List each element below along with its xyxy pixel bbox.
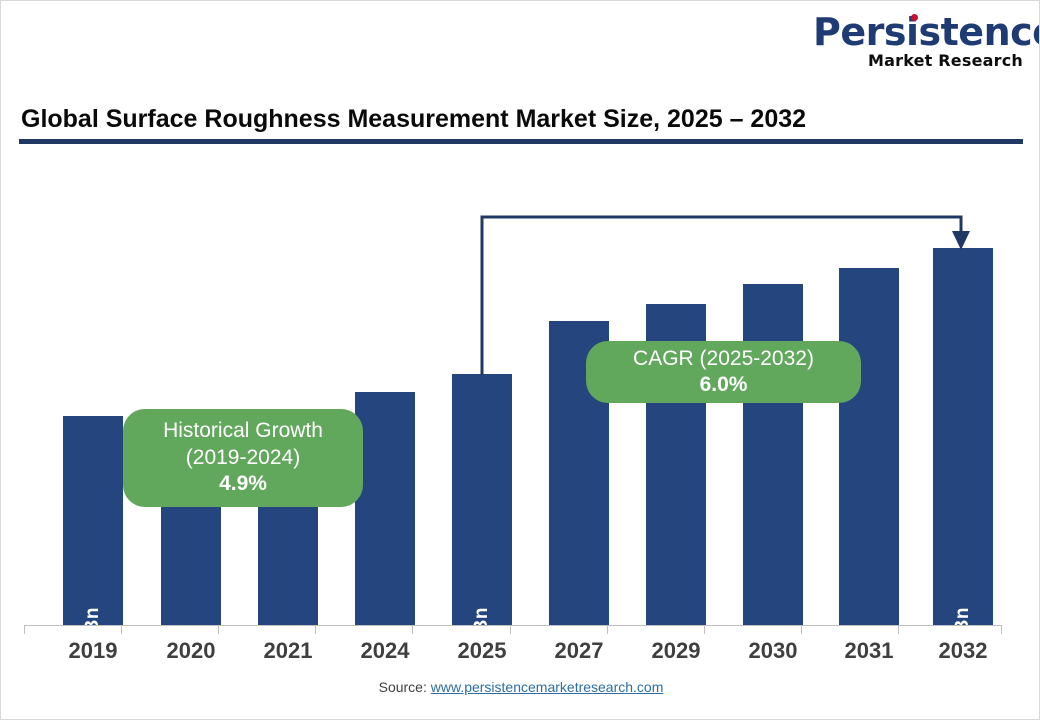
- historical-callout-value: 4.9%: [219, 471, 267, 497]
- chart-page: Persistence Market Research Global Surfa…: [0, 0, 1040, 720]
- axis-tick: [121, 625, 122, 634]
- plot-area: US$ 0.8 Bn US$ 1.1 Bn US$ 1.7 Bn: [1, 151, 1040, 625]
- cagr-callout-line1: CAGR (2025-2032): [633, 346, 814, 372]
- company-logo: Persistence Market Research: [813, 13, 1023, 69]
- bar-2031[interactable]: [839, 268, 899, 625]
- axis-tick: [24, 625, 25, 634]
- cagr-callout: CAGR (2025-2032) 6.0%: [586, 341, 861, 403]
- source-prefix: Source:: [379, 679, 431, 695]
- x-label-2019: 2019: [43, 638, 143, 664]
- x-label-2024: 2024: [335, 638, 435, 664]
- logo-brand-label: Persistence: [813, 10, 1040, 54]
- x-label-2030: 2030: [723, 638, 823, 664]
- axis-tick: [412, 625, 413, 634]
- logo-brand-text: Persistence: [813, 13, 1023, 51]
- axis-tick: [510, 625, 511, 634]
- page-title: Global Surface Roughness Measurement Mar…: [21, 105, 806, 134]
- axis-tick: [1001, 625, 1002, 634]
- x-label-2020: 2020: [141, 638, 241, 664]
- axis-tick: [898, 625, 899, 634]
- x-label-2027: 2027: [529, 638, 629, 664]
- x-label-2021: 2021: [238, 638, 338, 664]
- bar-2019[interactable]: US$ 0.8 Bn: [63, 416, 123, 625]
- bar-2024[interactable]: [355, 392, 415, 625]
- bar-2025[interactable]: US$ 1.1 Bn: [452, 374, 512, 625]
- x-label-2031: 2031: [819, 638, 919, 664]
- bar-2032[interactable]: US$ 1.7 Bn: [933, 248, 993, 625]
- axis-tick: [607, 625, 608, 634]
- source-link[interactable]: www.persistencemarketresearch.com: [431, 679, 664, 695]
- historical-growth-callout: Historical Growth (2019-2024) 4.9%: [123, 409, 363, 507]
- logo-accent-dot-icon: [911, 14, 918, 21]
- axis-tick: [315, 625, 316, 634]
- x-label-2029: 2029: [626, 638, 726, 664]
- historical-callout-line2: (2019-2024): [186, 445, 300, 471]
- cagr-callout-value: 6.0%: [700, 372, 748, 398]
- source-line: Source: www.persistencemarketresearch.co…: [1, 679, 1040, 695]
- x-axis-line: [24, 625, 1001, 626]
- logo-tagline: Market Research: [813, 53, 1023, 69]
- x-label-2032: 2032: [913, 638, 1013, 664]
- title-underline-rule: [19, 139, 1023, 144]
- x-axis-labels: 2019 2020 2021 2024 2025 2027 2029 2030 …: [1, 638, 1040, 670]
- axis-tick: [801, 625, 802, 634]
- historical-callout-line1: Historical Growth: [163, 418, 323, 444]
- bar-2030[interactable]: [743, 284, 803, 625]
- x-label-2025: 2025: [432, 638, 532, 664]
- bar-chart: US$ 0.8 Bn US$ 1.1 Bn US$ 1.7 Bn: [1, 151, 1040, 651]
- axis-tick: [704, 625, 705, 634]
- axis-tick: [218, 625, 219, 634]
